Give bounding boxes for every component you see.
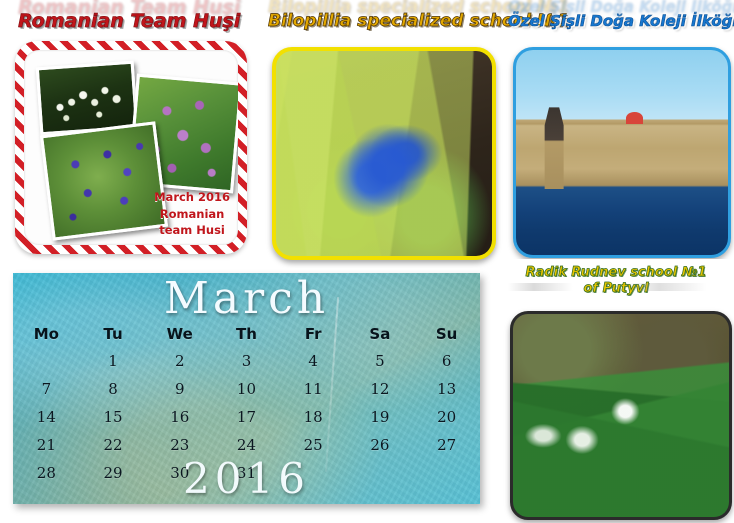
calendar-day-cell: 5 [347, 347, 414, 375]
calendar-day-cell: 2 [146, 347, 213, 375]
snowdrops-photo [510, 311, 732, 520]
calendar-day-cell: 21 [13, 431, 80, 459]
calendar-month-title: March [13, 273, 480, 321]
title-turkish-school-text: Özel Şişli Doğa Koleji İlköğretim Okulu [508, 12, 734, 30]
calendar-day-cell: 8 [80, 375, 147, 403]
collage-inner-area: March 2016 Romanian team Husi [24, 50, 238, 245]
calendar-day-cell: 4 [280, 347, 347, 375]
calendar-day-cell: 15 [80, 403, 147, 431]
blue-scilla-flowers-photo [272, 47, 496, 260]
calendar-day-cell: 7 [13, 375, 80, 403]
slide-canvas: Romanian Team Huşi Romanian Team Huşi Bi… [0, 0, 734, 523]
calendar-weekday-we: We [146, 323, 213, 347]
calendar-day-cell: 27 [413, 431, 480, 459]
collage-caption: March 2016 Romanian team Husi [154, 189, 230, 239]
calendar-day-cell: 1 [80, 347, 147, 375]
calendar-day-cell: 11 [280, 375, 347, 403]
calendar-day-cell [13, 347, 80, 375]
calendar-day-cell: 17 [213, 403, 280, 431]
collage-caption-line-1: March 2016 [154, 189, 230, 206]
radik-rudnev-banner: Radik Rudnev school №1 of Putyvl [502, 259, 730, 303]
calendar-weekday-su: Su [413, 323, 480, 347]
violets-photo [40, 121, 168, 240]
calendar-day-cell: 26 [347, 431, 414, 459]
calendar-week-row: 1 2 3 4 5 6 [13, 347, 480, 375]
march-2016-calendar: March Mo Tu We Th Fr Sa Su 1 2 3 [13, 273, 480, 504]
calendar-weekday-sa: Sa [347, 323, 414, 347]
calendar-weekday-th: Th [213, 323, 280, 347]
collage-caption-line-2: Romanian [154, 206, 230, 223]
snowdrops-image [513, 314, 729, 517]
calendar-day-cell: 9 [146, 375, 213, 403]
calendar-day-cell: 19 [347, 403, 414, 431]
calendar-day-cell: 14 [13, 403, 80, 431]
calendar-year-title: 2016 [13, 458, 480, 500]
calendar-day-cell: 12 [347, 375, 414, 403]
calendar-weekday-fr: Fr [280, 323, 347, 347]
title-romanian-team: Romanian Team Huşi Romanian Team Huşi [18, 12, 240, 31]
calendar-day-cell: 10 [213, 375, 280, 403]
calendar-weekday-mo: Mo [13, 323, 80, 347]
calendar-day-cell: 13 [413, 375, 480, 403]
banner-line-2: of Putyvl [583, 281, 648, 297]
white-flowers-photo [36, 61, 139, 136]
collage-caption-line-3: team Husi [154, 222, 230, 239]
calendar-weekday-row: Mo Tu We Th Fr Sa Su [13, 323, 480, 347]
calendar-weekday-tu: Tu [80, 323, 147, 347]
romanian-collage-panel: March 2016 Romanian team Husi [15, 41, 247, 254]
banner-line-1: Radik Rudnev school №1 [526, 265, 707, 281]
haydarpasa-terminal-photo [513, 47, 731, 258]
title-turkish-school: Özel Şişli Doğa Koleji İlköğretim Okulu … [508, 14, 734, 29]
title-romanian-team-text: Romanian Team Huşi [18, 10, 240, 32]
blue-scilla-flowers-image [276, 51, 492, 256]
calendar-day-cell: 6 [413, 347, 480, 375]
calendar-day-cell: 20 [413, 403, 480, 431]
haydarpasa-terminal-image [516, 50, 728, 255]
calendar-day-cell: 3 [213, 347, 280, 375]
calendar-week-row: 14 15 16 17 18 19 20 [13, 403, 480, 431]
calendar-day-cell: 18 [280, 403, 347, 431]
calendar-day-cell: 22 [80, 431, 147, 459]
calendar-week-row: 7 8 9 10 11 12 13 [13, 375, 480, 403]
calendar-day-cell: 16 [146, 403, 213, 431]
